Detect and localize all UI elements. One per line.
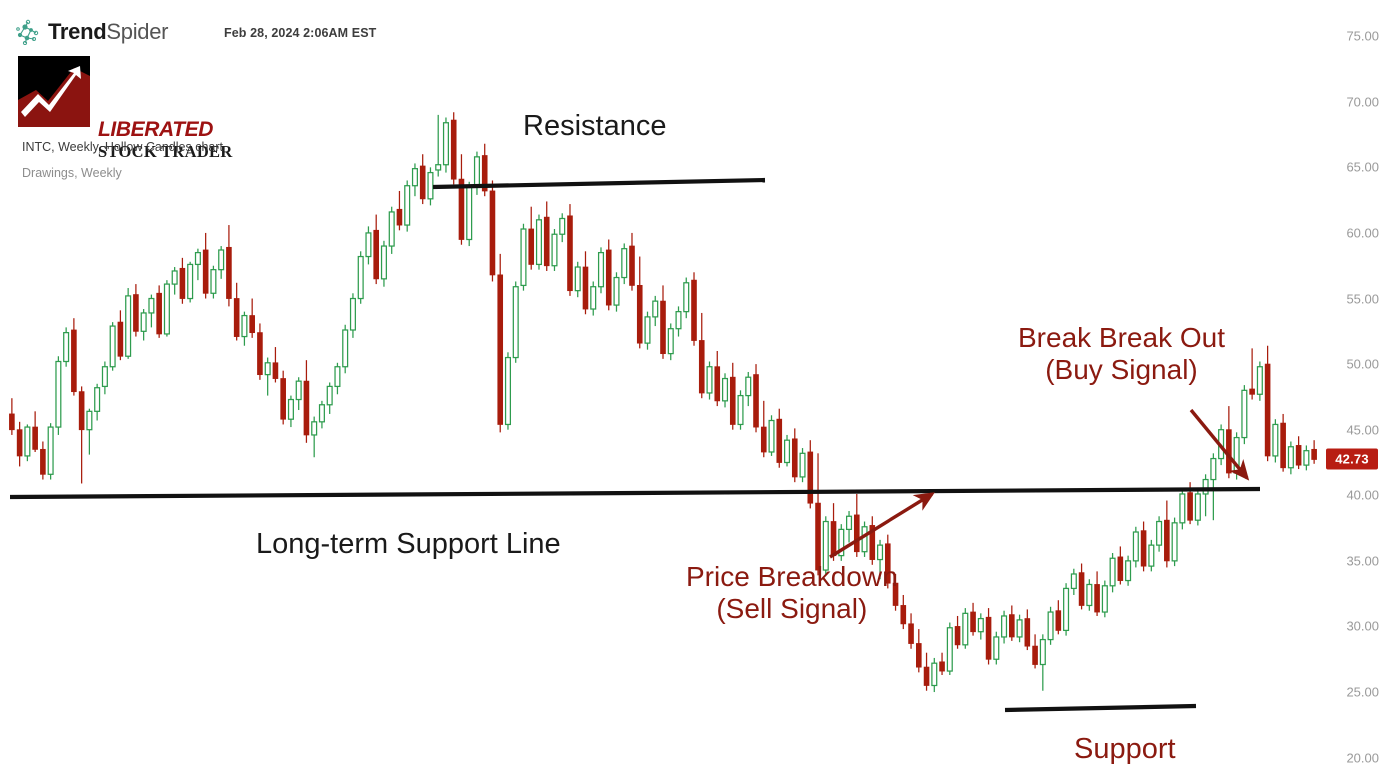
price-axis-tick: 60.00 (1346, 225, 1379, 240)
candle-body-down (924, 667, 929, 685)
candle-body-up (769, 421, 774, 452)
candle-body-up (172, 271, 177, 284)
candle-body-down (901, 605, 906, 623)
spider-network-icon (14, 19, 44, 45)
candle-body-up (1157, 522, 1162, 546)
buy-signal-arrow (1191, 410, 1247, 478)
candle-body-down (529, 229, 534, 264)
candle-body-up (444, 123, 449, 165)
candle-body-up (188, 264, 193, 298)
candle-body-up (785, 440, 790, 462)
candle-body-up (1172, 523, 1177, 561)
candle-body-down (630, 246, 635, 285)
candle-body-up (614, 278, 619, 306)
candle-body-down (17, 430, 22, 456)
candle-body-up (738, 396, 743, 425)
rising-arrow-logo-icon (18, 56, 90, 127)
candle-body-down (250, 316, 255, 333)
candle-body-up (1211, 459, 1216, 480)
candle-body-up (165, 284, 170, 334)
price-axis-tick: 55.00 (1346, 291, 1379, 306)
candle-body-down (281, 379, 286, 420)
chart-title-caption: INTC, Weekly, Hollow Candles chart (22, 140, 223, 154)
candle-body-down (258, 333, 263, 375)
candle-body-down (1164, 520, 1169, 561)
candle-body-up (1040, 640, 1045, 665)
price-axis-tick: 70.00 (1346, 94, 1379, 109)
candle-body-down (1312, 449, 1317, 459)
price-axis-tick: 30.00 (1346, 619, 1379, 634)
candle-body-up (932, 663, 937, 685)
candle-body-up (436, 165, 441, 170)
candle-body-down (568, 216, 573, 291)
candle-body-up (1048, 612, 1053, 640)
candle-body-up (1234, 438, 1239, 473)
candle-body-up (1304, 451, 1309, 465)
candle-body-up (405, 186, 410, 225)
candle-body-down (157, 293, 162, 334)
candle-body-up (839, 529, 844, 555)
price-axis[interactable]: 75.0070.0065.0060.0055.0050.0045.0040.00… (1325, 0, 1387, 781)
candle-body-up (599, 253, 604, 287)
candle-body-down (451, 120, 456, 179)
candle-body-up (242, 316, 247, 337)
candle-body-down (544, 217, 549, 266)
candle-body-up (211, 270, 216, 294)
candle-body-up (1149, 545, 1154, 566)
candle-body-up (1195, 494, 1200, 520)
candle-body-up (622, 249, 627, 278)
candle-body-up (862, 527, 867, 552)
candle-body-up (56, 361, 61, 427)
candle-body-up (149, 299, 154, 313)
candle-body-up (110, 326, 115, 367)
candle-body-up (1257, 367, 1262, 395)
candle-body-up (513, 287, 518, 358)
trendspider-branding: TrendSpider (14, 18, 168, 46)
candle-body-up (25, 427, 30, 456)
candle-body-down (1265, 364, 1270, 456)
candle-body-down (234, 299, 239, 337)
sell-signal-arrow (830, 494, 932, 557)
candle-body-up (878, 545, 883, 559)
candle-body-up (219, 250, 224, 270)
candle-body-up (1273, 424, 1278, 455)
candle-body-up (847, 516, 852, 529)
candle-body-down (33, 427, 38, 449)
candle-body-up (413, 169, 418, 186)
annotation-resistance: Resistance (523, 110, 666, 144)
candle-body-down (955, 626, 960, 644)
candle-body-down (118, 322, 123, 356)
candle-body-up (1017, 620, 1022, 637)
candle-body-up (296, 381, 301, 399)
support-line (1005, 706, 1196, 710)
candle-body-down (71, 330, 76, 392)
candle-body-down (916, 644, 921, 668)
brand-bold: Trend (48, 19, 106, 44)
annotation-support: Support (1074, 733, 1176, 767)
candle-body-down (273, 363, 278, 379)
chart-screenshot: TrendSpider Feb 28, 2024 2:06AM EST LIBE… (0, 0, 1387, 781)
candle-body-down (730, 377, 735, 424)
logo-line-1: LIBERATED (98, 118, 268, 142)
long-term-support-line (10, 489, 1260, 497)
candle-body-up (1126, 561, 1131, 581)
annotation-breakout: Break Break Out (Buy Signal) (1018, 322, 1225, 387)
candle-body-down (1095, 584, 1100, 612)
price-axis-tick: 25.00 (1346, 685, 1379, 700)
annotation-breakdown: Price Breakdown (Sell Signal) (686, 561, 898, 626)
candle-body-down (692, 280, 697, 340)
candle-body-down (1250, 389, 1255, 394)
candle-body-up (653, 301, 658, 317)
liberated-stock-trader-logo: LIBERATED STOCK TRADER (18, 56, 90, 127)
candle-body-up (467, 187, 472, 239)
candle-body-up (382, 246, 387, 279)
candle-body-up (575, 267, 580, 291)
candle-body-up (707, 367, 712, 393)
trendspider-wordmark: TrendSpider (48, 19, 168, 45)
candle-body-down (971, 612, 976, 632)
candle-body-down (420, 166, 425, 199)
candle-body-up (676, 312, 681, 329)
candle-body-down (40, 449, 45, 474)
price-axis-tick: 35.00 (1346, 553, 1379, 568)
candle-body-up (95, 388, 100, 412)
candle-body-up (645, 317, 650, 343)
price-axis-tick: 45.00 (1346, 422, 1379, 437)
candle-body-down (1188, 493, 1193, 521)
candle-body-down (1025, 619, 1030, 647)
candle-body-up (521, 229, 526, 285)
candle-body-up (87, 411, 92, 429)
candle-body-down (909, 624, 914, 644)
price-axis-tick: 50.00 (1346, 357, 1379, 372)
candle-body-up (723, 379, 728, 401)
candle-body-up (591, 287, 596, 309)
brand-light: Spider (106, 19, 168, 44)
candle-body-down (940, 662, 945, 671)
candle-body-down (761, 427, 766, 452)
candle-body-up (126, 296, 131, 356)
candle-body-up (978, 619, 983, 632)
candle-body-down (870, 525, 875, 559)
candle-body-down (1226, 430, 1231, 473)
candle-body-up (1180, 494, 1185, 523)
candle-body-up (389, 212, 394, 246)
candle-body-up (1102, 586, 1107, 612)
candle-body-up (289, 400, 294, 420)
candle-body-down (1079, 573, 1084, 606)
price-axis-tick: 20.00 (1346, 750, 1379, 765)
candle-body-down (9, 414, 14, 430)
candle-body-down (831, 522, 836, 556)
candle-body-down (583, 267, 588, 309)
candle-body-up (1110, 558, 1115, 586)
candle-body-up (312, 422, 317, 435)
candle-body-down (777, 419, 782, 462)
candle-body-up (1064, 588, 1069, 630)
candle-body-down (606, 250, 611, 305)
candle-body-up (265, 363, 270, 375)
candle-body-down (397, 209, 402, 225)
last-price-tag: 42.73 (1326, 449, 1378, 470)
candle-body-down (490, 191, 495, 275)
candle-body-up (963, 613, 968, 644)
candle-body-down (1056, 611, 1061, 631)
candle-body-down (1033, 646, 1038, 664)
candle-body-down (1296, 445, 1301, 465)
candle-body-down (792, 439, 797, 477)
candle-body-down (854, 515, 859, 552)
candle-body-up (506, 358, 511, 425)
candle-body-down (1141, 531, 1146, 566)
candle-body-up (141, 313, 146, 331)
resistance-line (433, 180, 765, 187)
price-axis-tick: 65.00 (1346, 160, 1379, 175)
candle-body-down (808, 452, 813, 503)
chart-drawings-caption: Drawings, Weekly (22, 166, 122, 180)
candle-body-up (668, 329, 673, 354)
candle-body-up (64, 333, 69, 362)
annotation-breakout-line1: Break Break Out (1018, 322, 1225, 354)
annotation-long-term-support: Long-term Support Line (256, 528, 561, 562)
candle-body-down (699, 341, 704, 393)
candle-body-down (498, 275, 503, 425)
candle-body-up (335, 367, 340, 387)
candle-body-up (746, 377, 751, 395)
candle-body-up (196, 253, 201, 265)
candle-body-up (366, 233, 371, 257)
annotation-breakdown-line1: Price Breakdown (686, 561, 898, 593)
candle-body-up (1087, 584, 1092, 605)
candle-body-up (102, 367, 107, 387)
candle-body-down (180, 268, 185, 298)
candle-body-up (1133, 532, 1138, 561)
drawing-layer (10, 180, 1260, 710)
candle-body-down (134, 295, 139, 332)
candle-body-down (715, 367, 720, 401)
candle-body-down (374, 230, 379, 279)
price-axis-tick: 40.00 (1346, 488, 1379, 503)
candle-body-down (79, 392, 84, 430)
candlestick-series (9, 112, 1316, 692)
candle-body-up (320, 405, 325, 422)
candle-body-down (754, 375, 759, 427)
candle-body-down (1118, 557, 1123, 581)
candle-body-up (800, 453, 805, 477)
candle-body-up (684, 283, 689, 312)
candle-body-up (994, 637, 999, 659)
candle-body-up (358, 257, 363, 299)
candle-body-up (1002, 616, 1007, 637)
candle-body-up (560, 219, 565, 235)
annotation-breakout-line2: (Buy Signal) (1018, 354, 1225, 386)
candle-body-down (1009, 615, 1014, 637)
candle-body-up (1203, 480, 1208, 494)
candle-body-down (482, 156, 487, 191)
price-axis-tick: 75.00 (1346, 29, 1379, 44)
candle-body-up (1219, 430, 1224, 459)
candle-body-down (986, 617, 991, 659)
candle-body-up (552, 234, 557, 265)
annotation-breakdown-line2: (Sell Signal) (686, 593, 898, 625)
candle-body-down (1281, 423, 1286, 468)
candle-body-down (637, 285, 642, 343)
candle-body-up (428, 173, 433, 199)
candle-body-up (343, 330, 348, 367)
candle-body-up (1288, 447, 1293, 468)
candle-body-down (203, 250, 208, 293)
candle-body-up (537, 220, 542, 265)
candle-body-up (351, 299, 356, 330)
candle-body-down (227, 247, 232, 298)
candle-body-up (327, 386, 332, 404)
candle-body-up (475, 157, 480, 187)
candle-body-up (947, 628, 952, 671)
candle-body-down (459, 179, 464, 239)
candle-body-down (304, 381, 309, 435)
candle-body-up (48, 427, 53, 474)
chart-timestamp: Feb 28, 2024 2:06AM EST (224, 26, 376, 40)
candle-body-up (1071, 574, 1076, 588)
candle-body-up (1242, 390, 1247, 437)
candle-body-down (661, 301, 666, 353)
